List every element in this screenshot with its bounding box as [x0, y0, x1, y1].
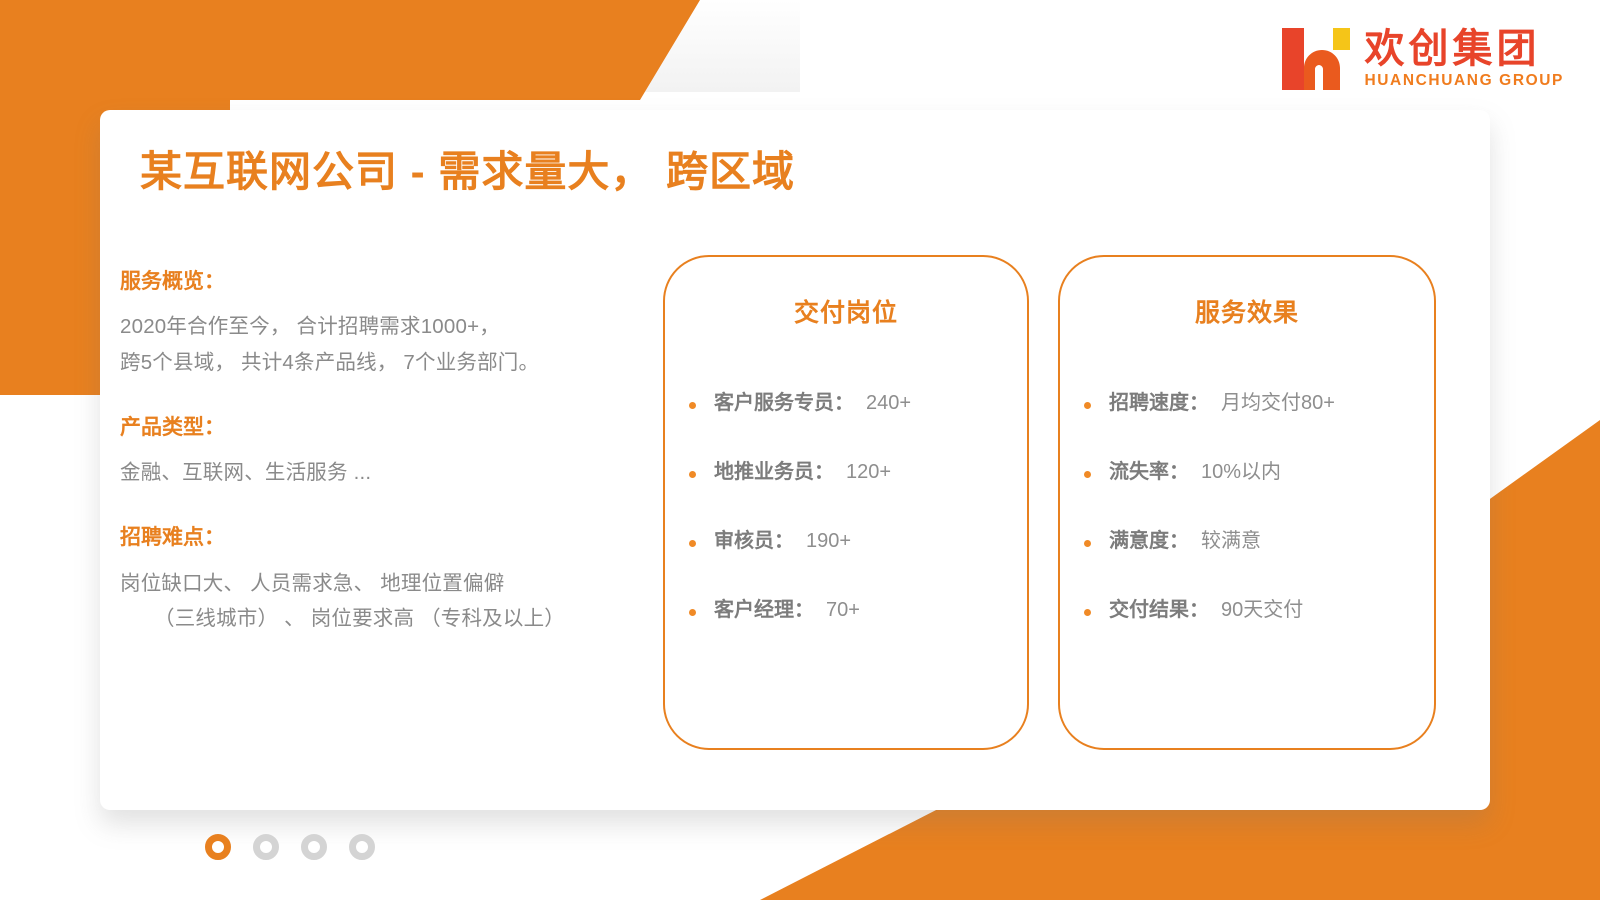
slide-canvas: 欢创集团 HUANCHUANG GROUP 某互联网公司 - 需求量大， 跨区域… [0, 0, 1600, 900]
info-heading: 产品类型： [120, 414, 650, 441]
brand-logo-text: 欢创集团 HUANCHUANG GROUP [1364, 28, 1564, 91]
page-title: 某互联网公司 - 需求量大， 跨区域 [140, 138, 795, 199]
pagination-dots[interactable] [205, 834, 375, 860]
list-item: 地推业务员： 120+ [665, 460, 1027, 485]
list-item: 客户服务专员： 240+ [665, 391, 1027, 416]
list-item: 流失率： 10%以内 [1060, 460, 1434, 485]
overview-column: 服务概览： 2020年合作至今， 合计招聘需求1000+， 跨5个县域， 共计4… [120, 268, 650, 636]
info-block-recruiting-difficulty: 招聘难点： 岗位缺口大、 人员需求急、 地理位置偏僻 （三线城市） 、 岗位要求… [120, 524, 650, 636]
bullet-icon [1084, 402, 1091, 409]
brand-name-en: HUANCHUANG GROUP [1364, 72, 1564, 91]
info-block-product-type: 产品类型： 金融、互联网、生活服务 ... [120, 414, 650, 491]
info-body-line: 跨5个县域， 共计4条产品线， 7个业务部门。 [120, 351, 539, 374]
list-item-label: 客户经理： [714, 598, 814, 623]
info-body-line: 2020年合作至今， 合计招聘需求1000+， [120, 315, 500, 338]
card-delivery-positions: 交付岗位 客户服务专员： 240+ 地推业务员： 120+ 审核员： 190+ … [663, 255, 1029, 750]
info-body: 岗位缺口大、 人员需求急、 地理位置偏僻 （三线城市） 、 岗位要求高 （专科及… [120, 566, 650, 637]
list-item-label: 流失率： [1109, 460, 1189, 485]
list-item: 交付结果： 90天交付 [1060, 598, 1434, 623]
huanchuang-h-mark-icon [1278, 24, 1350, 94]
card-service-results: 服务效果 招聘速度： 月均交付80+ 流失率： 10%以内 满意度： 较满意 交… [1058, 255, 1436, 750]
list-item-value: 10%以内 [1201, 460, 1281, 485]
list-item-value: 120+ [846, 460, 891, 485]
pagination-dot-3[interactable] [301, 834, 327, 860]
list-item-label: 客户服务专员： [714, 391, 854, 416]
list-item-value: 240+ [866, 391, 911, 416]
bullet-icon [689, 609, 696, 616]
pagination-dot-4[interactable] [349, 834, 375, 860]
card-title: 交付岗位 [665, 293, 1027, 329]
bullet-icon [689, 471, 696, 478]
brand-name-cn: 欢创集团 [1364, 28, 1540, 70]
info-heading: 服务概览： [120, 268, 650, 295]
info-body-line: 金融、互联网、生活服务 ... [120, 461, 371, 484]
list-item-label: 招聘速度： [1109, 391, 1209, 416]
card-title: 服务效果 [1060, 293, 1434, 329]
info-block-service-overview: 服务概览： 2020年合作至今， 合计招聘需求1000+， 跨5个县域， 共计4… [120, 268, 650, 380]
bullet-icon [689, 540, 696, 547]
list-item-label: 地推业务员： [714, 460, 834, 485]
pagination-dot-1[interactable] [205, 834, 231, 860]
list-item: 客户经理： 70+ [665, 598, 1027, 623]
info-body-line: 岗位缺口大、 人员需求急、 地理位置偏僻 [120, 572, 504, 595]
list-item-label: 交付结果： [1109, 598, 1209, 623]
list-item-value: 190+ [806, 529, 851, 554]
info-heading: 招聘难点： [120, 524, 650, 551]
list-item-value: 70+ [826, 598, 860, 623]
list-item: 满意度： 较满意 [1060, 529, 1434, 554]
list-item: 审核员： 190+ [665, 529, 1027, 554]
list-item-value: 90天交付 [1221, 598, 1303, 623]
list-item-value: 较满意 [1201, 529, 1261, 554]
list-item-value: 月均交付80+ [1221, 391, 1335, 416]
bullet-icon [1084, 609, 1091, 616]
card-item-list: 客户服务专员： 240+ 地推业务员： 120+ 审核员： 190+ 客户经理：… [665, 391, 1027, 623]
pagination-dot-2[interactable] [253, 834, 279, 860]
list-item-label: 满意度： [1109, 529, 1189, 554]
info-body-line: （三线城市） 、 岗位要求高 （专科及以上） [120, 601, 650, 636]
bullet-icon [689, 402, 696, 409]
info-body: 2020年合作至今， 合计招聘需求1000+， 跨5个县域， 共计4条产品线， … [120, 309, 650, 380]
info-body: 金融、互联网、生活服务 ... [120, 455, 650, 490]
brand-logo: 欢创集团 HUANCHUANG GROUP [1278, 24, 1564, 94]
list-item-label: 审核员： [714, 529, 794, 554]
bullet-icon [1084, 540, 1091, 547]
bullet-icon [1084, 471, 1091, 478]
card-item-list: 招聘速度： 月均交付80+ 流失率： 10%以内 满意度： 较满意 交付结果： … [1060, 391, 1434, 623]
list-item: 招聘速度： 月均交付80+ [1060, 391, 1434, 416]
